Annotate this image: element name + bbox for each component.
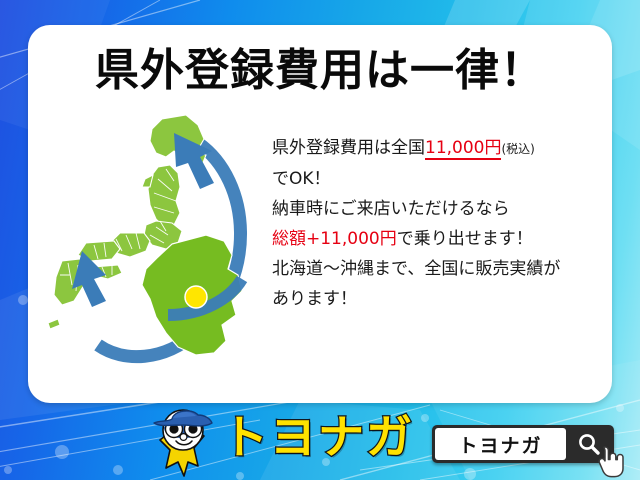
price-nationwide: 11,000円 — [425, 138, 501, 160]
brand-wordmark: トヨナガ — [222, 414, 414, 460]
toyonaga-mascot — [146, 406, 220, 478]
page-title: 県外登録費用は一律！ — [28, 49, 612, 93]
total-price-highlight: 総額+11,000円 — [272, 229, 397, 249]
copy-line-2: でOK！ — [272, 164, 602, 194]
copy-line-4-tail: で乗り出せます！ — [397, 229, 533, 249]
body-copy: 県外登録費用は全国11,000円(税込) でOK！ 納車時にご来店いただけるなら… — [272, 133, 602, 314]
copy-line-3: 納車時にご来店いただけるなら — [272, 194, 602, 224]
copy-line-5: 北海道〜沖縄まで、全国に販売実績が — [272, 254, 602, 284]
dealer-location-marker — [185, 286, 207, 308]
copy-line-1-lead: 県外登録費用は全国 — [272, 138, 425, 158]
japan-map-illustration — [46, 109, 271, 387]
search-input[interactable]: トヨナガ — [435, 428, 566, 460]
hand-cursor-icon — [596, 445, 626, 478]
copy-line-1: 県外登録費用は全国11,000円(税込) — [272, 133, 602, 164]
search-input-value: トヨナガ — [458, 431, 542, 458]
copy-line-4: 総額+11,000円で乗り出せます！ — [272, 224, 602, 254]
copy-line-6: あります！ — [272, 284, 602, 314]
tax-note: (税込) — [501, 142, 534, 156]
banner-image: 県外登録費用は一律！ — [0, 0, 640, 480]
search-widget[interactable]: トヨナガ — [432, 425, 614, 463]
content-card: 県外登録費用は一律！ — [28, 25, 612, 403]
